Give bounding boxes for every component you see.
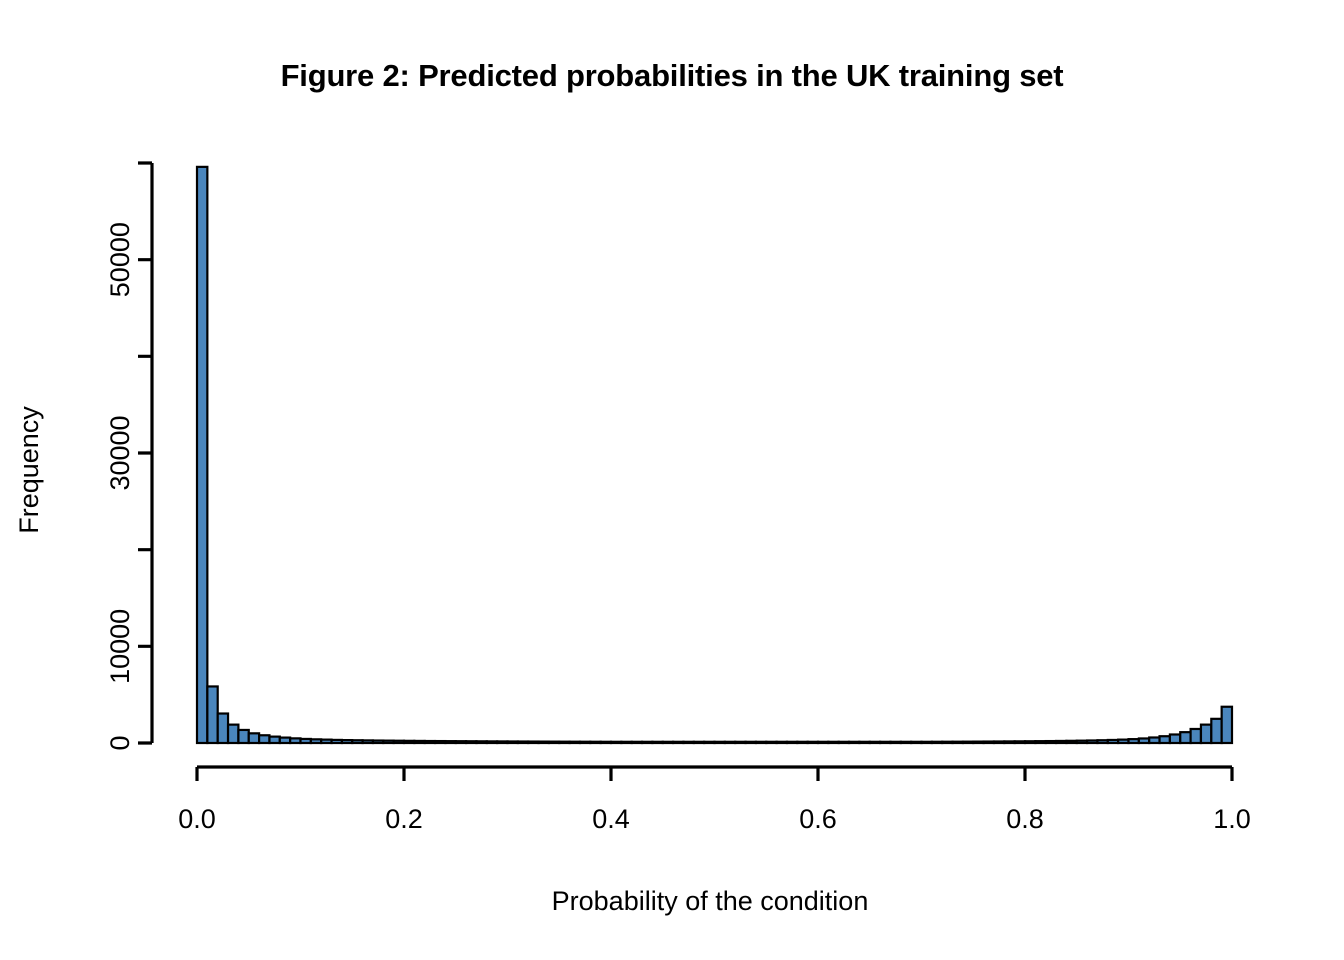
histogram-bar <box>880 742 890 743</box>
histogram-bar <box>1004 741 1014 743</box>
histogram-bar <box>1160 736 1170 743</box>
histogram-bar <box>953 742 963 743</box>
histogram-bar <box>1087 740 1097 743</box>
histogram-bar <box>363 740 373 743</box>
histogram-bar <box>559 742 569 743</box>
histogram-bar <box>280 738 290 743</box>
y-tick-label: 50000 <box>105 222 135 297</box>
histogram-bar <box>580 742 590 743</box>
histogram-bar <box>715 742 725 743</box>
histogram-figure: Figure 2: Predicted probabilities in the… <box>0 0 1344 960</box>
histogram-bar <box>683 742 693 743</box>
histogram-bar <box>456 741 466 743</box>
histogram-bar <box>1129 739 1139 743</box>
histogram-bar <box>1056 741 1066 743</box>
histogram-bar <box>1025 741 1035 743</box>
histogram-bar <box>445 741 455 743</box>
y-tick-label: 30000 <box>105 415 135 490</box>
y-axis-title: Frequency <box>14 406 44 534</box>
histogram-bar <box>228 725 238 743</box>
histogram-bar <box>590 742 600 743</box>
histogram-bar <box>911 742 921 743</box>
histogram-bar <box>601 742 611 743</box>
y-axis-line <box>138 163 152 743</box>
histogram-bar <box>1077 741 1087 743</box>
histogram-bar <box>259 735 269 743</box>
x-tick-label: 0.2 <box>385 804 423 834</box>
x-tick-label: 0.6 <box>799 804 837 834</box>
histogram-bar <box>497 741 507 743</box>
histogram-bar <box>404 741 414 743</box>
histogram-bar <box>1108 740 1118 743</box>
histogram-bar <box>476 741 486 743</box>
histogram-bar <box>797 742 807 743</box>
histogram-bar <box>1201 725 1211 743</box>
histogram-bar <box>394 741 404 743</box>
histogram-bar <box>1097 740 1107 743</box>
histogram-bar <box>1118 740 1128 743</box>
histogram-bar <box>290 738 300 743</box>
x-axis-title: Probability of the condition <box>552 886 869 916</box>
histogram-bar <box>321 740 331 743</box>
histogram-bar <box>1066 741 1076 743</box>
histogram-bar <box>1180 732 1190 743</box>
histogram-bar <box>1046 741 1056 743</box>
histogram-bar <box>766 742 776 743</box>
histogram-bar <box>663 742 673 743</box>
histogram-bar <box>508 741 518 743</box>
x-tick-label: 1.0 <box>1213 804 1251 834</box>
histogram-bar <box>332 740 342 743</box>
histogram-bar <box>249 733 259 743</box>
histogram-bar <box>839 742 849 743</box>
histogram-bar <box>756 742 766 743</box>
histogram-bar <box>859 742 869 743</box>
histogram-bar <box>1015 741 1025 743</box>
histogram-bar <box>570 742 580 743</box>
x-tick-label: 0.4 <box>592 804 630 834</box>
histogram-bar <box>963 742 973 743</box>
histogram-bar <box>621 742 631 743</box>
y-axis <box>138 163 152 743</box>
histogram-bar <box>746 742 756 743</box>
histogram-bar <box>487 741 497 743</box>
histogram-bar <box>1035 741 1045 743</box>
histogram-bar <box>1211 719 1221 743</box>
x-tick-label: 0.0 <box>178 804 216 834</box>
histogram-bar <box>704 742 714 743</box>
histogram-bar <box>207 686 217 743</box>
histogram-bar <box>922 742 932 743</box>
x-tick-labels: 0.00.20.40.60.81.0 <box>178 804 1251 834</box>
histogram-bar <box>539 742 549 743</box>
histogram-bar <box>994 741 1004 743</box>
histogram-bar <box>466 741 476 743</box>
histogram-bar <box>383 741 393 743</box>
histogram-bar <box>777 742 787 743</box>
x-axis <box>197 767 1232 781</box>
histogram-bar <box>197 167 207 743</box>
histogram-bar <box>973 742 983 743</box>
histogram-bar <box>828 742 838 743</box>
histogram-bar <box>238 730 248 743</box>
histogram-bar <box>1170 734 1180 743</box>
histogram-bar <box>787 742 797 743</box>
histogram-bar <box>652 742 662 743</box>
histogram-bar <box>414 741 424 743</box>
histogram-bar <box>611 742 621 743</box>
histogram-bar <box>425 741 435 743</box>
histogram-bar <box>269 737 279 743</box>
histogram-bar <box>342 740 352 743</box>
histogram-bar <box>642 742 652 743</box>
histogram-bar <box>1191 729 1201 743</box>
histogram-bar <box>1139 738 1149 743</box>
histogram-bar <box>870 742 880 743</box>
x-tick-label: 0.8 <box>1006 804 1044 834</box>
histogram-bar <box>808 742 818 743</box>
histogram-bar <box>818 742 828 743</box>
histogram-plot: 0100003000050000 0.00.20.40.60.81.0 Freq… <box>0 0 1344 960</box>
histogram-bar <box>694 742 704 743</box>
histogram-bar <box>435 741 445 743</box>
x-axis-line <box>197 767 1232 781</box>
histogram-bar <box>218 714 228 743</box>
histogram-bar <box>942 742 952 743</box>
histogram-bar <box>311 739 321 743</box>
histogram-bar <box>549 742 559 743</box>
y-tick-label: 10000 <box>105 609 135 684</box>
histogram-bar <box>890 742 900 743</box>
histogram-bar <box>632 742 642 743</box>
histogram-bar <box>518 742 528 743</box>
y-tick-label: 0 <box>105 735 135 750</box>
histogram-bar <box>1149 737 1159 743</box>
histogram-bar <box>725 742 735 743</box>
histogram-bar <box>352 740 362 743</box>
histogram-bar <box>901 742 911 743</box>
histogram-bar <box>373 741 383 743</box>
histogram-bar <box>673 742 683 743</box>
histogram-bar <box>301 739 311 743</box>
histogram-bar <box>984 742 994 743</box>
histogram-bar <box>849 742 859 743</box>
histogram-bars <box>197 167 1232 743</box>
histogram-bar <box>932 742 942 743</box>
histogram-bar <box>1222 707 1232 743</box>
y-tick-labels: 0100003000050000 <box>105 222 135 750</box>
histogram-bar <box>735 742 745 743</box>
histogram-bar <box>528 742 538 743</box>
